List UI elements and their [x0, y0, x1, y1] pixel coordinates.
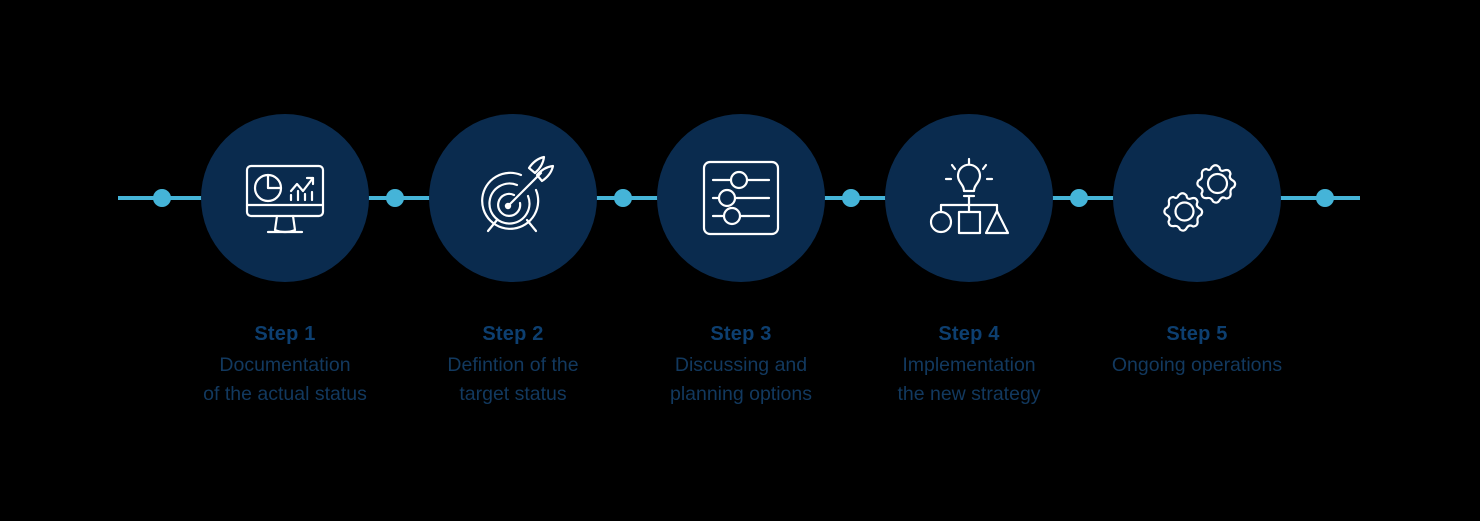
step-title: Step 1	[155, 322, 415, 346]
process-timeline-diagram: Step 1 Documentation of the actual statu…	[0, 0, 1480, 521]
step-description: Discussing and planning options	[611, 351, 871, 409]
step-circle-4[interactable]	[885, 114, 1053, 282]
step-item-3[interactable]: Step 3 Discussing and planning options	[627, 0, 855, 521]
step-labels-5: Step 5 Ongoing operations	[1067, 322, 1327, 380]
gears-icon	[1147, 148, 1247, 248]
monitor-analytics-icon	[235, 148, 335, 248]
step-title: Step 3	[611, 322, 871, 346]
step-circle-3[interactable]	[657, 114, 825, 282]
timeline-dot-0	[153, 189, 171, 207]
step-labels-4: Step 4 Implementation the new strategy	[839, 322, 1099, 409]
step-circle-2[interactable]	[429, 114, 597, 282]
step-title: Step 4	[839, 322, 1099, 346]
step-description: Documentation of the actual status	[155, 351, 415, 409]
step-labels-1: Step 1 Documentation of the actual statu…	[155, 322, 415, 409]
step-item-2[interactable]: Step 2 Defintion of the target status	[399, 0, 627, 521]
step-description: Implementation the new strategy	[839, 351, 1099, 409]
sliders-settings-icon	[691, 148, 791, 248]
step-labels-3: Step 3 Discussing and planning options	[611, 322, 871, 409]
step-labels-2: Step 2 Defintion of the target status	[383, 322, 643, 409]
step-item-5[interactable]: Step 5 Ongoing operations	[1083, 0, 1311, 521]
step-description: Defintion of the target status	[383, 351, 643, 409]
target-arrow-icon	[463, 148, 563, 248]
step-title: Step 2	[383, 322, 643, 346]
step-title: Step 5	[1067, 322, 1327, 346]
step-description: Ongoing operations	[1067, 351, 1327, 380]
lightbulb-strategy-icon	[919, 148, 1019, 248]
step-item-1[interactable]: Step 1 Documentation of the actual statu…	[171, 0, 399, 521]
step-circle-5[interactable]	[1113, 114, 1281, 282]
timeline-dot-5	[1316, 189, 1334, 207]
step-circle-1[interactable]	[201, 114, 369, 282]
step-item-4[interactable]: Step 4 Implementation the new strategy	[855, 0, 1083, 521]
